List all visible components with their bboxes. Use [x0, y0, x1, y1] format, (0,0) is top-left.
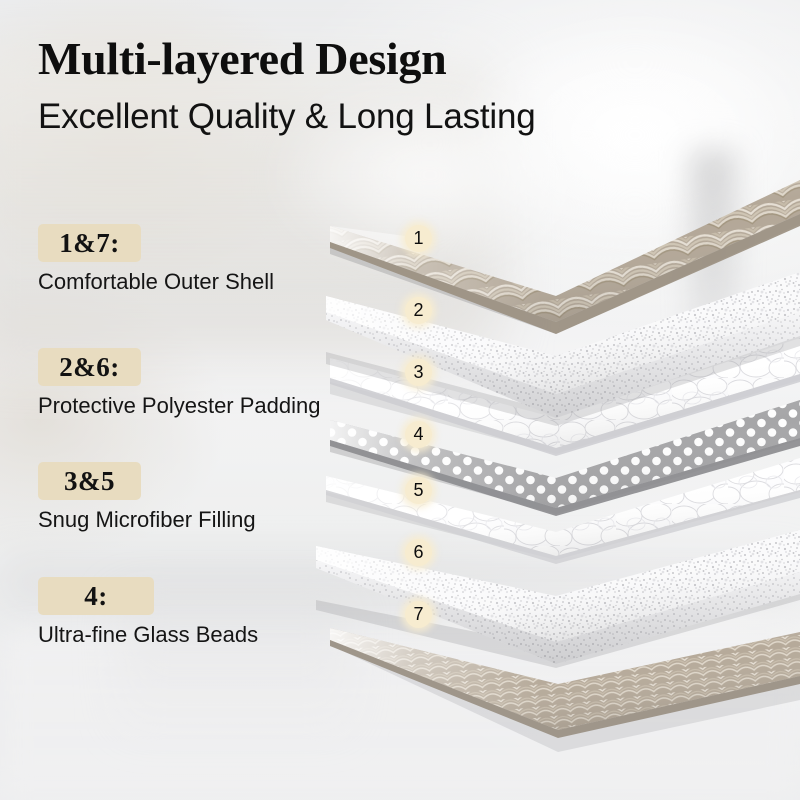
callout-desc-2-6: Protective Polyester Padding — [38, 393, 321, 418]
callout-tag-2-6: 2&6: — [38, 348, 141, 386]
layer-badge-6: 6 — [405, 539, 432, 566]
callout-desc-4: Ultra-fine Glass Beads — [38, 622, 258, 647]
layer-badge-1: 1 — [405, 225, 432, 252]
page-subtitle: Excellent Quality & Long Lasting — [38, 99, 536, 134]
callout-2-6: 2&6: Protective Polyester Padding — [38, 348, 321, 418]
callout-tag-3-5: 3&5 — [38, 462, 141, 500]
callout-4: 4: Ultra-fine Glass Beads — [38, 577, 258, 647]
layer-badge-3: 3 — [405, 359, 432, 386]
callout-desc-3-5: Snug Microfiber Filling — [38, 507, 256, 532]
callout-3-5: 3&5 Snug Microfiber Filling — [38, 462, 256, 532]
callout-1-7: 1&7: Comfortable Outer Shell — [38, 224, 274, 294]
layer-badge-5: 5 — [405, 477, 432, 504]
callout-desc-1-7: Comfortable Outer Shell — [38, 269, 274, 294]
layer-badge-4: 4 — [405, 421, 432, 448]
layer-badge-7: 7 — [405, 601, 432, 628]
callout-tag-1-7: 1&7: — [38, 224, 141, 262]
page-title: Multi-layered Design — [38, 36, 446, 82]
callout-tag-4: 4: — [38, 577, 154, 615]
infographic-canvas: 1 2 3 4 5 6 7 Multi-layered Design Excel… — [0, 0, 800, 800]
layer-badge-2: 2 — [405, 297, 432, 324]
